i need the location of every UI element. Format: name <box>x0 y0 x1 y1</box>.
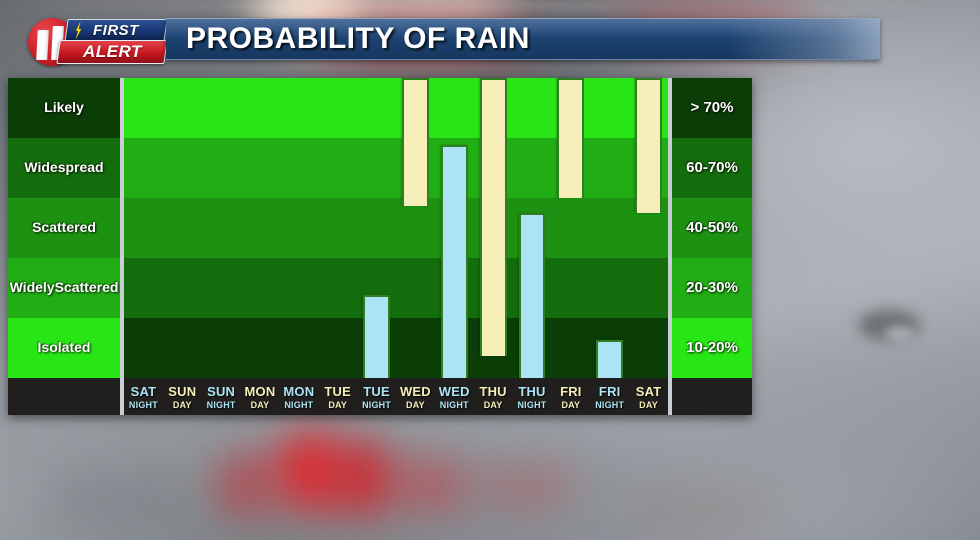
plot-area <box>124 78 668 378</box>
page-title: PROBABILITY OF RAIN <box>186 22 530 56</box>
day-name: WED <box>439 384 470 399</box>
day-label-thu-night: THUNIGHT <box>513 378 552 415</box>
day-name: TUE <box>324 384 351 399</box>
bar-slot <box>435 78 474 378</box>
bar-slot <box>318 78 357 378</box>
day-period: NIGHT <box>440 400 469 410</box>
day-name: SUN <box>207 384 235 399</box>
day-period: DAY <box>561 400 580 410</box>
day-period: NIGHT <box>284 400 313 410</box>
day-period: DAY <box>639 400 658 410</box>
day-label-wed-night: WEDNIGHT <box>435 378 474 415</box>
background-blur-blob <box>330 440 396 516</box>
day-label-sun-day: SUNDAY <box>163 378 202 415</box>
day-name: THU <box>518 384 545 399</box>
bar-fri-night[interactable] <box>596 340 623 378</box>
footer-divider-right <box>668 378 672 415</box>
day-name: TUE <box>363 384 390 399</box>
day-name: MON <box>245 384 276 399</box>
day-period: NIGHT <box>207 400 236 410</box>
bar-thu-day[interactable] <box>480 78 507 356</box>
day-period: DAY <box>328 400 347 410</box>
day-label-fri-day: FRIDAY <box>551 378 590 415</box>
bar-fri-day[interactable] <box>557 78 584 198</box>
bar-slot <box>202 78 241 378</box>
day-name: FRI <box>599 384 621 399</box>
bar-slot <box>279 78 318 378</box>
bar-thu-night[interactable] <box>519 213 546 378</box>
day-label-mon-day: MONDAY <box>241 378 280 415</box>
band-category-0-text: Likely <box>8 78 120 138</box>
bar-slot <box>629 78 668 378</box>
rain-probability-chart: LikelyWidespreadScatteredWidelyScattered… <box>8 78 752 415</box>
band-percentage-4-text: 10-20% <box>672 318 752 378</box>
day-label-mon-night: MONNIGHT <box>279 378 318 415</box>
day-period: NIGHT <box>595 400 624 410</box>
background-blur-blob <box>214 452 276 518</box>
band-category-3-text: WidelyScattered <box>8 258 120 318</box>
day-name: WED <box>400 384 431 399</box>
bar-slot <box>124 78 163 378</box>
graphic-header: FIRST ALERT PROBABILITY OF RAIN <box>0 0 980 74</box>
logo-alert-text: ALERT <box>83 42 142 62</box>
day-name: SAT <box>636 384 662 399</box>
band-percentage-0-text: > 70% <box>672 78 752 138</box>
band-percentage-4: 10-20% <box>672 318 752 378</box>
band-category-2: Scattered <box>8 198 120 258</box>
bar-slot <box>396 78 435 378</box>
bar-slot <box>163 78 202 378</box>
band-category-3: WidelyScattered <box>8 258 120 318</box>
band-percentage-1-text: 60-70% <box>672 138 752 198</box>
background-blur-blob <box>620 486 780 530</box>
bar-slot <box>551 78 590 378</box>
day-axis-labels: SATNIGHTSUNDAYSUNNIGHTMONDAYMONNIGHTTUED… <box>124 378 668 415</box>
bar-series <box>124 78 668 378</box>
bar-tue-night[interactable] <box>363 295 390 378</box>
day-period: DAY <box>484 400 503 410</box>
bar-wed-night[interactable] <box>441 145 468 378</box>
background-blur-blob <box>470 462 580 510</box>
day-period: NIGHT <box>362 400 391 410</box>
day-period: DAY <box>406 400 425 410</box>
day-label-fri-night: FRINIGHT <box>590 378 629 415</box>
category-label-column: LikelyWidespreadScatteredWidelyScattered… <box>8 78 120 378</box>
title-bar: PROBABILITY OF RAIN <box>166 18 880 60</box>
bar-slot <box>241 78 280 378</box>
day-period: DAY <box>173 400 192 410</box>
day-period: NIGHT <box>129 400 158 410</box>
bar-slot <box>590 78 629 378</box>
bar-wed-day[interactable] <box>402 78 429 206</box>
day-label-sat-day: SATDAY <box>629 378 668 415</box>
day-label-thu-day: THUDAY <box>474 378 513 415</box>
band-category-1-text: Widespread <box>8 138 120 198</box>
band-percentage-0: > 70% <box>672 78 752 138</box>
day-label-wed-day: WEDDAY <box>396 378 435 415</box>
day-period: NIGHT <box>517 400 546 410</box>
bar-sat-day[interactable] <box>635 78 662 213</box>
background-blur-blob <box>884 326 914 340</box>
day-period: DAY <box>251 400 270 410</box>
band-category-2-text: Scattered <box>8 198 120 258</box>
logo-alert-banner: ALERT <box>56 40 167 64</box>
band-percentage-2-text: 40-50% <box>672 198 752 258</box>
day-name: FRI <box>560 384 582 399</box>
day-name: SAT <box>131 384 157 399</box>
logo-first-text: FIRST <box>93 22 139 39</box>
band-percentage-1: 60-70% <box>672 138 752 198</box>
day-label-sat-night: SATNIGHT <box>124 378 163 415</box>
band-category-4-text: Isolated <box>8 318 120 378</box>
band-percentage-3-text: 20-30% <box>672 258 752 318</box>
band-percentage-3: 20-30% <box>672 258 752 318</box>
band-category-4: Isolated <box>8 318 120 378</box>
day-name: MON <box>283 384 314 399</box>
bar-slot <box>357 78 396 378</box>
day-label-tue-day: TUEDAY <box>318 378 357 415</box>
day-label-tue-night: TUENIGHT <box>357 378 396 415</box>
band-category-0: Likely <box>8 78 120 138</box>
day-name: SUN <box>168 384 196 399</box>
bar-slot <box>474 78 513 378</box>
title-bar-fade <box>730 19 880 59</box>
bar-slot <box>513 78 552 378</box>
background-blur-blob <box>392 456 468 514</box>
station-logo: FIRST ALERT <box>28 16 166 66</box>
band-percentage-2: 40-50% <box>672 198 752 258</box>
band-category-1: Widespread <box>8 138 120 198</box>
background-blur-blob <box>40 470 190 526</box>
day-axis-footer: SATNIGHTSUNDAYSUNNIGHTMONDAYMONNIGHTTUED… <box>8 378 752 415</box>
day-label-sun-night: SUNNIGHT <box>202 378 241 415</box>
day-name: THU <box>479 384 506 399</box>
percentage-label-column: > 70%60-70%40-50%20-30%10-20% <box>672 78 752 378</box>
